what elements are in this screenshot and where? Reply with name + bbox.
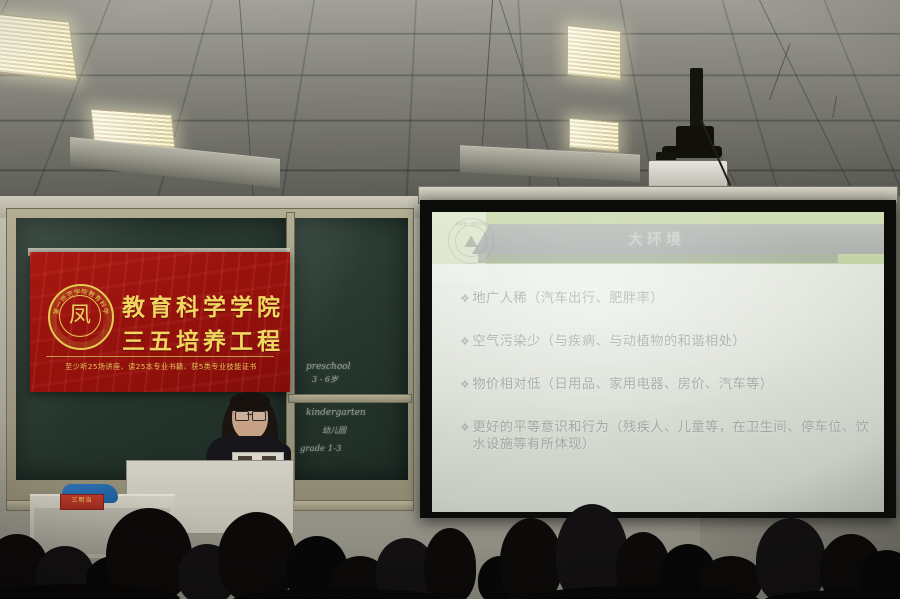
bullet-marker-icon: ❖ — [460, 333, 470, 351]
university-logo-text: 湖南第一师范学院 — [449, 222, 493, 227]
presenter-glasses-bridge — [247, 414, 252, 415]
banner-line-1: 教育科学学院 — [122, 288, 284, 322]
ceiling-light-fixture — [569, 118, 619, 152]
projection-screen: 大环境 湖南第一师范学院 ⛰ ❖ 地广人稀（汽车出行、肥胖率） ❖ 空气污染少（… — [432, 212, 884, 512]
slide-bullet-item: ❖ 地广人稀（汽车出行、肥胖率） — [460, 290, 872, 308]
slide-bullet-text: 地广人稀（汽车出行、肥胖率） — [472, 290, 872, 308]
bullet-marker-icon: ❖ — [460, 419, 470, 453]
presenter-hair-front — [230, 392, 270, 411]
ceiling — [0, 0, 900, 210]
red-box-label: 三明治 — [61, 495, 103, 507]
red-box: 三明治 — [60, 494, 104, 510]
audience-head — [218, 512, 296, 599]
mountain-icon: ⛰ — [455, 225, 487, 257]
chalk-text-preschool: preschool — [306, 362, 351, 372]
banner-seal-inner: 凤 — [59, 295, 101, 337]
blackboard-right-panel — [292, 218, 408, 480]
audience-head — [756, 518, 826, 599]
slide-bullet-list: ❖ 地广人稀（汽车出行、肥胖率） ❖ 空气污染少（与疾病、与动植物的和谐相处） … — [460, 290, 872, 478]
chalk-text-kindergarten: kindergarten — [306, 408, 366, 418]
slide-bullet-text: 空气污染少（与疾病、与动植物的和谐相处） — [472, 333, 872, 351]
blackboard-rail — [288, 394, 412, 403]
slide-bullet-text: 更好的平等意识和行为（残疾人、儿童等，在卫生间、停车位、饮水设施等有所体现） — [472, 419, 872, 453]
ceiling-light-fixture — [567, 25, 621, 81]
banner-subtitle: 至少听25场讲座、读25本专业书籍、获5类专业技能证书 — [46, 362, 276, 372]
bullet-marker-icon: ❖ — [460, 376, 470, 394]
chalk-text-kindergarten-cn: 幼儿园 — [322, 425, 346, 436]
bullet-marker-icon: ❖ — [460, 290, 470, 308]
presenter-glasses-right — [252, 411, 266, 421]
slide-bullet-item: ❖ 更好的平等意识和行为（残疾人、儿童等，在卫生间、停车位、饮水设施等有所体现） — [460, 419, 872, 453]
audience-head — [424, 528, 476, 599]
phoenix-icon: 凤 — [69, 305, 91, 327]
banner-seal: 湖南第一师范学院教育科学学院 凤 — [48, 284, 114, 350]
red-banner: 湖南第一师范学院教育科学学院 凤 教育科学学院 三五培养工程 至少听25场讲座、… — [30, 252, 290, 392]
chalk-text-grade: grade 1-3 — [300, 444, 341, 454]
banner-divider — [46, 356, 274, 357]
audience-head — [500, 518, 562, 599]
slide-bullet-item: ❖ 物价相对低（日用品、家用电器、房价、汽车等） — [460, 376, 872, 394]
slide-title-bar — [488, 224, 884, 254]
chalk-text-age-range: 3 - 6岁 — [312, 374, 338, 385]
presenter-glasses-left — [235, 411, 249, 421]
blackboard-glare — [292, 218, 408, 480]
ceiling-light-fixture — [0, 13, 78, 81]
slide-bullet-item: ❖ 空气污染少（与疾病、与动植物的和谐相处） — [460, 333, 872, 351]
slide-title-underbar — [478, 254, 838, 263]
slide-title: 大环境 — [628, 228, 685, 249]
slide-bullet-text: 物价相对低（日用品、家用电器、房价、汽车等） — [472, 376, 872, 394]
ceiling-shading — [0, 0, 900, 210]
banner-line-2: 三五培养工程 — [122, 322, 284, 356]
classroom-photo: Realtest preschool 3 - 6岁 kindergarten 幼… — [0, 0, 900, 599]
university-logo: 湖南第一师范学院 ⛰ — [448, 218, 494, 264]
